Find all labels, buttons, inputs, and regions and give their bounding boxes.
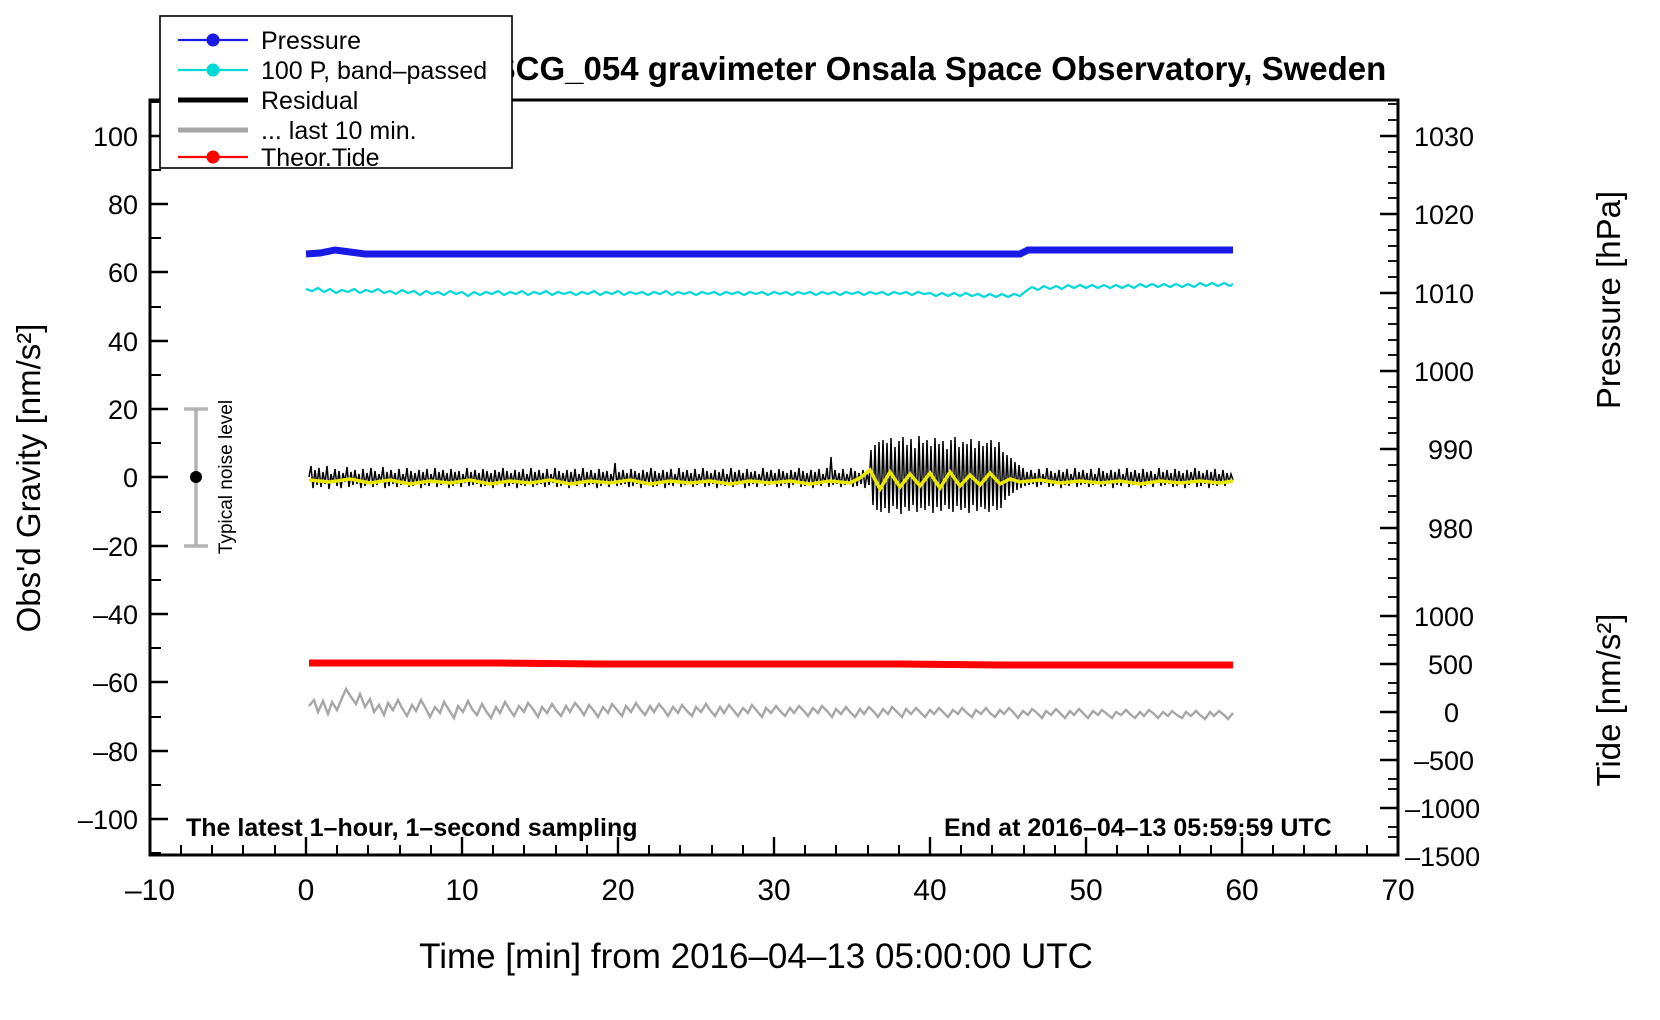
pressure-marker-icon <box>207 34 220 47</box>
pressure-tick-label: 1010 <box>1414 279 1474 309</box>
legend-label: Theor.Tide <box>261 144 380 172</box>
pressure-tick-label: 980 <box>1428 514 1473 544</box>
xtick-label: 10 <box>445 874 478 907</box>
pressure-tick-label: 990 <box>1428 435 1473 465</box>
xtick-label: 30 <box>757 874 790 907</box>
tide-axis-label: Tide [nm/s²] <box>1590 614 1627 787</box>
legend-label: 100 P, band–passed <box>261 57 487 85</box>
xtick-label: 50 <box>1069 874 1102 907</box>
x-axis-label: Time [min] from 2016–04–13 05:00:00 UTC <box>419 937 1093 976</box>
page-title: SCG_054 gravimeter Onsala Space Observat… <box>494 50 1387 87</box>
bottom-left-note: The latest 1–hour, 1–second sampling <box>186 814 638 842</box>
legend-label: ... last 10 min. <box>261 117 417 145</box>
tide-tick-label: –1500 <box>1405 842 1480 872</box>
xtick-label: 20 <box>601 874 634 907</box>
tide-tick-label: 1000 <box>1414 602 1474 632</box>
xtick-label: 0 <box>298 874 315 907</box>
ytick-label: –60 <box>93 668 138 698</box>
legend: Pressure 100 P, band–passed Residual ...… <box>160 16 512 172</box>
ytick-label: 20 <box>108 395 138 425</box>
ytick-label: 0 <box>123 463 138 493</box>
ytick-label: –80 <box>93 737 138 767</box>
y-axis-label: Obs'd Gravity [nm/s²] <box>10 324 47 633</box>
ytick-label: 80 <box>108 190 138 220</box>
tide-tick-label: –500 <box>1414 746 1474 776</box>
pressure-axis-label: Pressure [hPa] <box>1590 191 1627 409</box>
ytick-label: 40 <box>108 327 138 357</box>
xtick-label: –10 <box>125 874 175 907</box>
band-passed-marker-icon <box>207 64 220 77</box>
tide-marker-icon <box>207 151 220 164</box>
ytick-label: –40 <box>93 600 138 630</box>
tide-tick-label: 500 <box>1428 650 1473 680</box>
xtick-label: 70 <box>1381 874 1414 907</box>
series-pressure <box>306 250 1233 254</box>
pressure-tick-label: 1000 <box>1414 357 1474 387</box>
legend-label: Residual <box>261 87 358 115</box>
ytick-label: –20 <box>93 532 138 562</box>
xtick-label: 40 <box>913 874 946 907</box>
legend-label: Pressure <box>261 27 361 55</box>
plot-canvas: 100 80 60 40 20 0 –20 –40 –60 –80 –100 O… <box>0 0 1660 1020</box>
tide-tick-label: –1000 <box>1405 794 1480 824</box>
xtick-label: 60 <box>1225 874 1258 907</box>
ytick-label: 100 <box>93 122 138 152</box>
pressure-tick-label: 1030 <box>1414 122 1474 152</box>
ytick-label: 60 <box>108 258 138 288</box>
series-theor-tide <box>309 663 1233 665</box>
ytick-label: –100 <box>78 805 138 835</box>
bottom-right-note: End at 2016–04–13 05:59:59 UTC <box>944 814 1332 842</box>
typical-noise-level-label: Typical noise level <box>216 400 237 554</box>
tide-tick-label: 0 <box>1444 698 1459 728</box>
pressure-tick-label: 1020 <box>1414 200 1474 230</box>
gravimeter-chart: 100 80 60 40 20 0 –20 –40 –60 –80 –100 O… <box>0 0 1660 1020</box>
